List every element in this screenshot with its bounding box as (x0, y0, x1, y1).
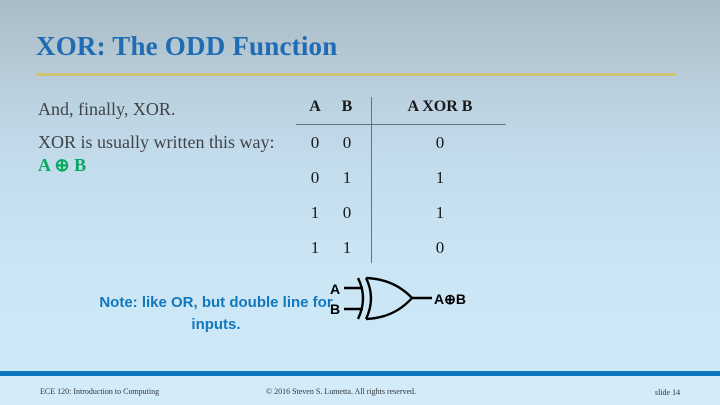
title-underline-rule (36, 73, 676, 76)
cell-b: 0 (336, 203, 358, 223)
cell-out: 0 (380, 238, 500, 258)
xor-gate-diagram: A B A⊕B (330, 276, 490, 332)
col-header-b: B (336, 98, 358, 116)
gate-input-b-label: B (330, 301, 340, 317)
footer-course-label: ECE 120: Introduction to Computing (40, 387, 159, 396)
cell-b: 0 (336, 133, 358, 153)
col-header-out: A XOR B (380, 98, 500, 116)
col-header-a: A (304, 98, 326, 116)
slide-canvas: XOR: The ODD Function And, finally, XOR.… (0, 0, 720, 405)
gate-output-label: A⊕B (434, 291, 466, 308)
truth-table-column-divider (371, 97, 372, 263)
body-line-2-text: XOR is usually written this way: (38, 132, 275, 152)
body-line-2: XOR is usually written this way: A ⊕ B (38, 131, 288, 177)
cell-out: 1 (380, 168, 500, 188)
xor-gate-icon (330, 276, 490, 332)
cell-out: 1 (380, 203, 500, 223)
page-title: XOR: The ODD Function (36, 31, 337, 62)
cell-a: 0 (304, 133, 326, 153)
cell-out: 0 (380, 133, 500, 153)
cell-b: 1 (336, 238, 358, 258)
cell-a: 1 (304, 238, 326, 258)
footer-copyright: © 2016 Steven S. Lumetta. All rights res… (266, 387, 416, 396)
body-line-1: And, finally, XOR. (38, 99, 175, 120)
gate-input-a-label: A (330, 281, 340, 297)
note-text: Note: like OR, but double line for input… (96, 292, 336, 336)
truth-table-header-divider (296, 124, 506, 125)
cell-a: 0 (304, 168, 326, 188)
cell-a: 1 (304, 203, 326, 223)
footer-slide-number: slide 14 (655, 388, 680, 397)
xor-symbol-inline: A ⊕ B (38, 155, 86, 175)
cell-b: 1 (336, 168, 358, 188)
